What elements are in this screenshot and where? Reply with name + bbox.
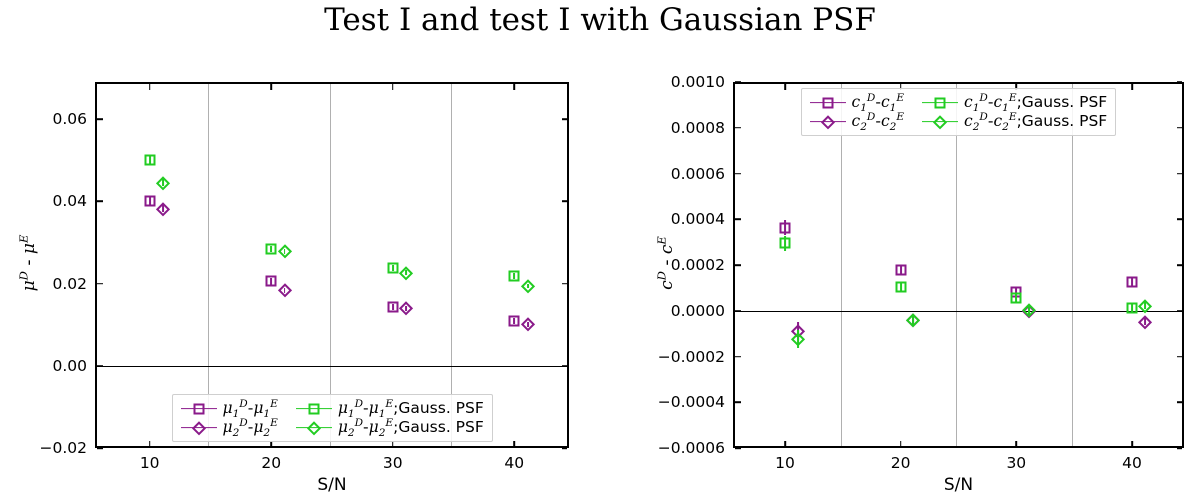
x-tick-mark bbox=[784, 441, 786, 447]
y-tick-mark bbox=[97, 118, 103, 120]
data-point-square bbox=[144, 195, 155, 206]
data-point-square bbox=[895, 282, 906, 293]
y-tick-mark bbox=[562, 447, 567, 449]
data-point-square bbox=[387, 301, 398, 312]
legend-marker-diamond bbox=[821, 115, 834, 128]
data-point-square bbox=[1126, 277, 1137, 288]
y-tick-mark bbox=[1177, 401, 1182, 403]
y-tick-label: 0.0006 bbox=[641, 165, 725, 183]
legend-entry[interactable]: c2D-c2E;Gauss. PSF bbox=[922, 113, 1107, 130]
y-tick-label: 0.00 bbox=[3, 357, 87, 375]
x-tick-mark bbox=[149, 84, 151, 90]
gridline-vertical bbox=[956, 84, 957, 446]
y-tick-mark bbox=[1177, 310, 1182, 312]
data-point-square bbox=[509, 316, 520, 327]
x-tick-label: 10 bbox=[140, 454, 160, 472]
figure-canvas: Test I and test I with Gaussian PSF −0.0… bbox=[0, 0, 1200, 492]
legend-marker-diamond bbox=[933, 115, 946, 128]
legend-marker-square bbox=[193, 403, 204, 414]
y-tick-label: 0.04 bbox=[3, 192, 87, 210]
legend-label: c2D-c2E;Gauss. PSF bbox=[964, 113, 1107, 130]
y-tick-mark bbox=[97, 365, 103, 367]
figure-title: Test I and test I with Gaussian PSF bbox=[0, 2, 1200, 38]
x-tick-label: 40 bbox=[504, 454, 524, 472]
legend-label: c1D-c1E;Gauss. PSF bbox=[964, 94, 1107, 111]
data-point-square bbox=[509, 270, 520, 281]
y-tick-label: −0.0006 bbox=[641, 439, 725, 457]
x-tick-mark bbox=[900, 441, 902, 447]
y-tick-label: 0.0000 bbox=[641, 302, 725, 320]
legend-entry[interactable]: μ2D-μ2E bbox=[181, 419, 278, 436]
y-tick-mark bbox=[1177, 173, 1182, 175]
data-point-square bbox=[780, 222, 791, 233]
data-point-square bbox=[895, 265, 906, 276]
data-point-square bbox=[780, 238, 791, 249]
data-point-square bbox=[266, 243, 277, 254]
y-tick-mark bbox=[735, 310, 741, 312]
y-tick-label: −0.02 bbox=[3, 439, 87, 457]
legend-marker-square bbox=[822, 97, 833, 108]
gridline-vertical bbox=[330, 84, 331, 446]
legend-label: c1D-c1E bbox=[852, 94, 905, 111]
y-tick-mark bbox=[562, 365, 567, 367]
legend-entry[interactable]: c1D-c1E bbox=[810, 94, 905, 111]
legend-handle bbox=[296, 420, 332, 436]
legend-marker-diamond bbox=[192, 421, 205, 434]
legend-marker-square bbox=[308, 403, 319, 414]
y-tick-mark bbox=[1177, 264, 1182, 266]
y-tick-mark bbox=[1177, 127, 1182, 129]
x-tick-mark bbox=[270, 84, 272, 90]
legend-marker-diamond bbox=[307, 421, 320, 434]
legend-handle bbox=[922, 114, 958, 130]
legend-handle bbox=[181, 420, 217, 436]
x-tick-label: 30 bbox=[1006, 454, 1026, 472]
x-tick-mark bbox=[514, 84, 516, 90]
y-tick-mark bbox=[97, 283, 103, 285]
gridline-vertical bbox=[451, 84, 452, 446]
data-point-square bbox=[144, 155, 155, 166]
x-tick-mark bbox=[1131, 84, 1133, 90]
x-tick-mark bbox=[149, 441, 151, 447]
legend-label: μ2D-μ2E bbox=[223, 419, 278, 436]
data-point-square bbox=[387, 262, 398, 273]
legend-handle bbox=[181, 401, 217, 417]
gridline-vertical bbox=[208, 84, 209, 446]
legend-handle bbox=[922, 95, 958, 111]
legend-entry[interactable]: μ2D-μ2E;Gauss. PSF bbox=[296, 419, 484, 436]
y-tick-label: −0.0004 bbox=[641, 393, 725, 411]
y-axis-label: μD - μE bbox=[0, 253, 89, 273]
gridline-vertical bbox=[841, 84, 842, 446]
legend-grid: μ1D-μ1Eμ1D-μ1E;Gauss. PSFμ2D-μ2Eμ2D-μ2E;… bbox=[181, 400, 484, 436]
x-axis-label: S/N bbox=[944, 475, 973, 495]
y-tick-mark bbox=[735, 264, 741, 266]
y-tick-mark bbox=[97, 447, 103, 449]
legend-entry[interactable]: c1D-c1E;Gauss. PSF bbox=[922, 94, 1107, 111]
zero-reference-line bbox=[95, 366, 569, 368]
legend-grid: c1D-c1Ec1D-c1E;Gauss. PSFc2D-c2Ec2D-c2E;… bbox=[810, 94, 1108, 130]
gridline-vertical bbox=[1072, 84, 1073, 446]
data-point-square bbox=[1011, 293, 1022, 304]
y-tick-mark bbox=[562, 200, 567, 202]
y-tick-mark bbox=[735, 447, 741, 449]
x-tick-label: 10 bbox=[775, 454, 795, 472]
legend: μ1D-μ1Eμ1D-μ1E;Gauss. PSFμ2D-μ2Eμ2D-μ2E;… bbox=[172, 394, 493, 442]
zero-reference-line bbox=[733, 311, 1184, 313]
y-tick-mark bbox=[97, 200, 103, 202]
x-tick-label: 40 bbox=[1122, 454, 1142, 472]
y-tick-mark bbox=[735, 218, 741, 220]
legend-handle bbox=[810, 95, 846, 111]
y-tick-mark bbox=[735, 401, 741, 403]
legend: c1D-c1Ec1D-c1E;Gauss. PSFc2D-c2Ec2D-c2E;… bbox=[801, 88, 1117, 136]
legend-label: μ1D-μ1E bbox=[223, 400, 278, 417]
x-tick-mark bbox=[514, 441, 516, 447]
y-tick-label: 0.0004 bbox=[641, 210, 725, 228]
legend-handle bbox=[810, 114, 846, 130]
y-tick-mark bbox=[1177, 447, 1182, 449]
legend-handle bbox=[296, 401, 332, 417]
y-tick-label: −0.0002 bbox=[641, 348, 725, 366]
y-tick-mark bbox=[735, 173, 741, 175]
y-tick-mark bbox=[562, 118, 567, 120]
plot-frame bbox=[733, 82, 1184, 448]
y-tick-mark bbox=[1177, 81, 1182, 83]
x-tick-label: 30 bbox=[383, 454, 403, 472]
y-tick-mark bbox=[735, 127, 741, 129]
legend-label: c2D-c2E bbox=[852, 113, 905, 130]
legend-entry[interactable]: c2D-c2E bbox=[810, 113, 905, 130]
y-tick-mark bbox=[562, 283, 567, 285]
y-tick-label: 0.06 bbox=[3, 110, 87, 128]
x-tick-mark bbox=[1131, 441, 1133, 447]
y-tick-mark bbox=[1177, 356, 1182, 358]
legend-label: μ2D-μ2E;Gauss. PSF bbox=[338, 419, 484, 436]
y-tick-mark bbox=[735, 356, 741, 358]
y-tick-label: 0.0008 bbox=[641, 119, 725, 137]
legend-marker-square bbox=[935, 97, 946, 108]
y-tick-label: 0.0010 bbox=[641, 73, 725, 91]
x-tick-mark bbox=[392, 84, 394, 90]
data-point-square bbox=[266, 276, 277, 287]
x-tick-label: 20 bbox=[261, 454, 281, 472]
x-axis-label: S/N bbox=[317, 475, 346, 495]
x-tick-mark bbox=[1016, 441, 1018, 447]
y-tick-mark bbox=[1177, 218, 1182, 220]
x-tick-mark bbox=[784, 84, 786, 90]
y-axis-label: cD - cE bbox=[607, 253, 727, 273]
legend-entry[interactable]: μ1D-μ1E;Gauss. PSF bbox=[296, 400, 484, 417]
legend-label: μ1D-μ1E;Gauss. PSF bbox=[338, 400, 484, 417]
data-point-square bbox=[1126, 303, 1137, 314]
legend-entry[interactable]: μ1D-μ1E bbox=[181, 400, 278, 417]
y-tick-mark bbox=[735, 81, 741, 83]
x-tick-label: 20 bbox=[891, 454, 911, 472]
